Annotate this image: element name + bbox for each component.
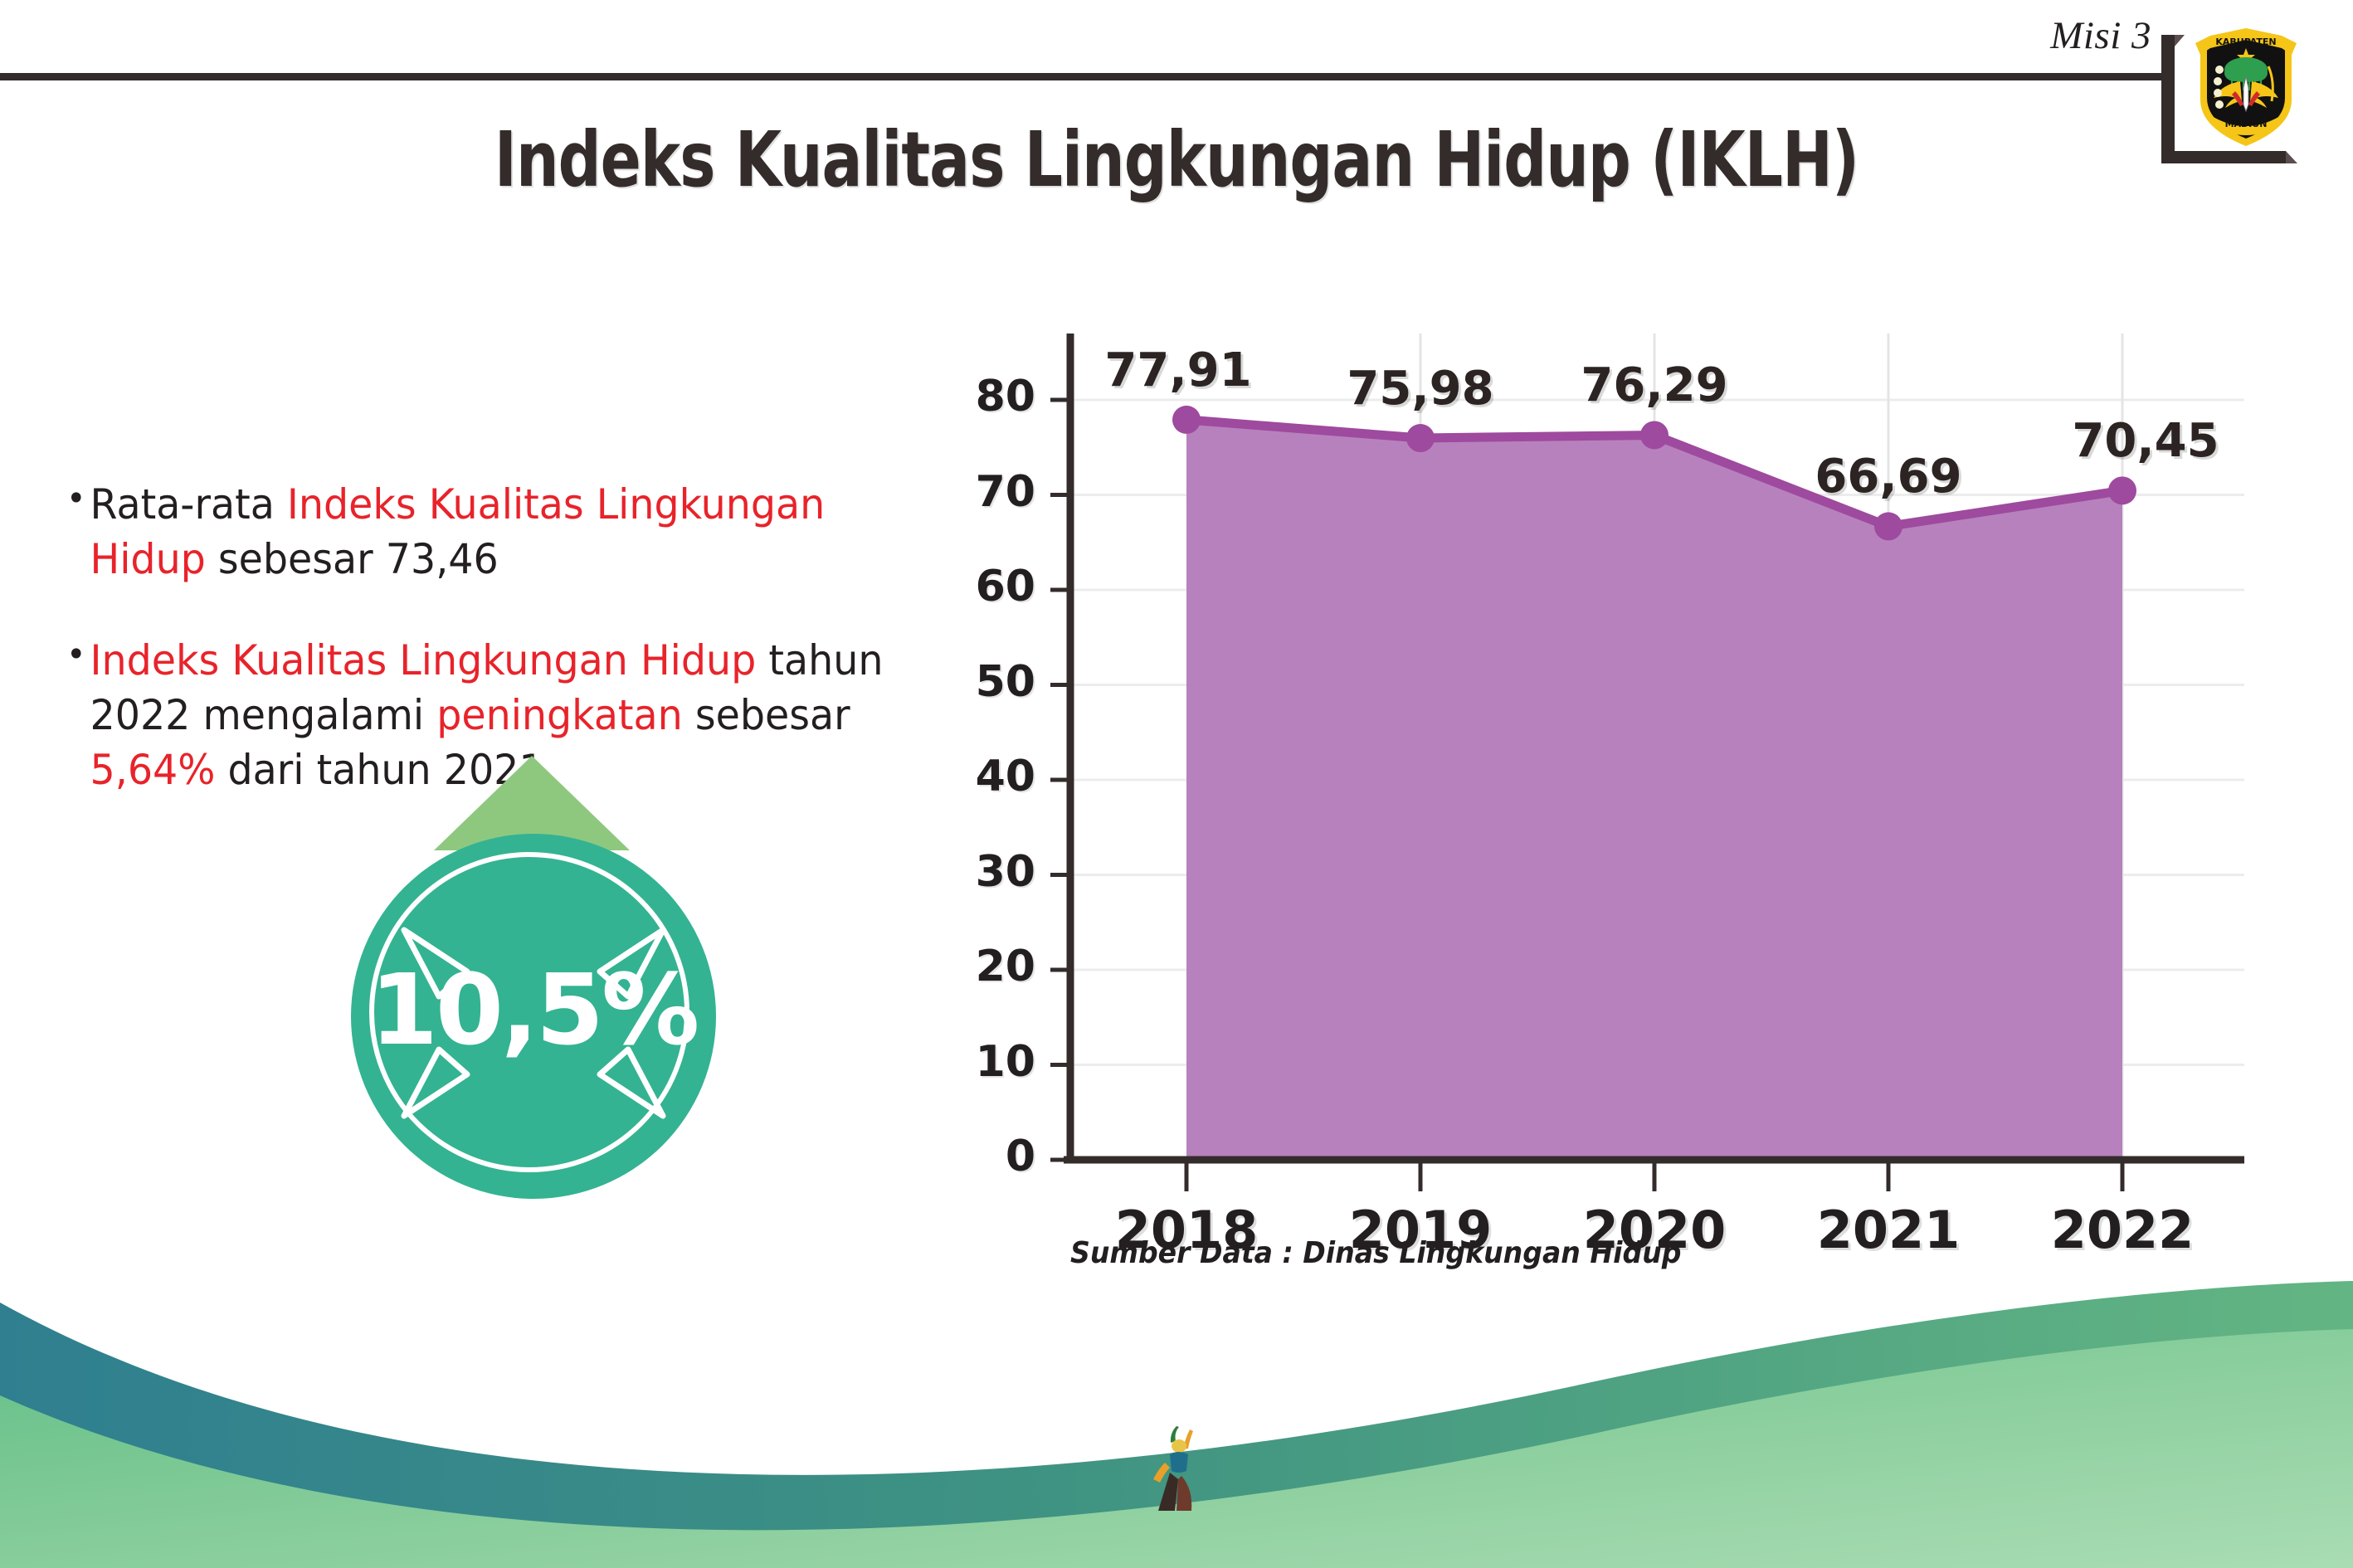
- data-point-marker: [1640, 421, 1669, 449]
- chart-source-note: Sumber Data : Dinas Lingkungan Hidup: [1070, 1236, 1681, 1270]
- y-axis-label: 10: [952, 1037, 1035, 1087]
- page-title: Indeks Kualitas Lingkungan Hidup (IKLH): [82, 116, 2270, 204]
- y-axis-label: 80: [952, 372, 1035, 421]
- bullet-segment: sebesar: [683, 691, 850, 739]
- footer-waves: [0, 1269, 2353, 1568]
- bullet-segment: sebesar 73,46: [206, 535, 499, 583]
- data-label: 75,98: [1321, 362, 1520, 416]
- bullet-segment: peningkatan: [436, 691, 683, 739]
- chart-area-fill: [1186, 420, 2122, 1160]
- data-label: 66,69: [1789, 450, 1988, 504]
- bullet-segment: Rata-rata: [90, 480, 287, 528]
- data-point-marker: [1172, 406, 1201, 434]
- data-point-marker: [1874, 512, 1902, 540]
- slide-root: Misi 3 KABUPATEN MADIUN: [0, 0, 2353, 1568]
- data-point-marker: [1406, 424, 1435, 452]
- iklh-area-chart: 01020304050607080 20182019202020212022 7…: [987, 299, 2282, 1228]
- chart-x-ticks: [1186, 1160, 2122, 1191]
- x-axis-label: 2022: [2031, 1200, 2214, 1260]
- header-rule: [0, 73, 2168, 80]
- bullet-segment: Indeks Kualitas Lingkungan Hidup: [90, 636, 757, 684]
- data-label: 76,29: [1555, 358, 1754, 412]
- y-axis-label: 40: [952, 752, 1035, 801]
- bps-figure-icon: [1145, 1421, 1211, 1517]
- list-item: Rata-rata Indeks Kualitas Lingkungan Hid…: [66, 477, 918, 587]
- x-axis-label: 2021: [1797, 1200, 1980, 1260]
- y-axis-label: 50: [952, 657, 1035, 707]
- bullet-segment: 5,64%: [90, 746, 216, 794]
- y-axis-label: 60: [952, 562, 1035, 611]
- growth-badge: 10,5%: [330, 751, 745, 1199]
- svg-text:KABUPATEN: KABUPATEN: [2215, 37, 2276, 47]
- misi-label: Misi 3: [2050, 13, 2151, 58]
- badge-percent-value: 10,5%: [351, 961, 716, 1059]
- y-axis-label: 70: [952, 467, 1035, 517]
- y-axis-label: 30: [952, 847, 1035, 897]
- y-axis-label: 0: [952, 1132, 1035, 1181]
- y-axis-label: 20: [952, 942, 1035, 991]
- data-label: 70,45: [2046, 414, 2245, 468]
- data-label: 77,91: [1079, 343, 1278, 397]
- data-point-marker: [2108, 476, 2136, 504]
